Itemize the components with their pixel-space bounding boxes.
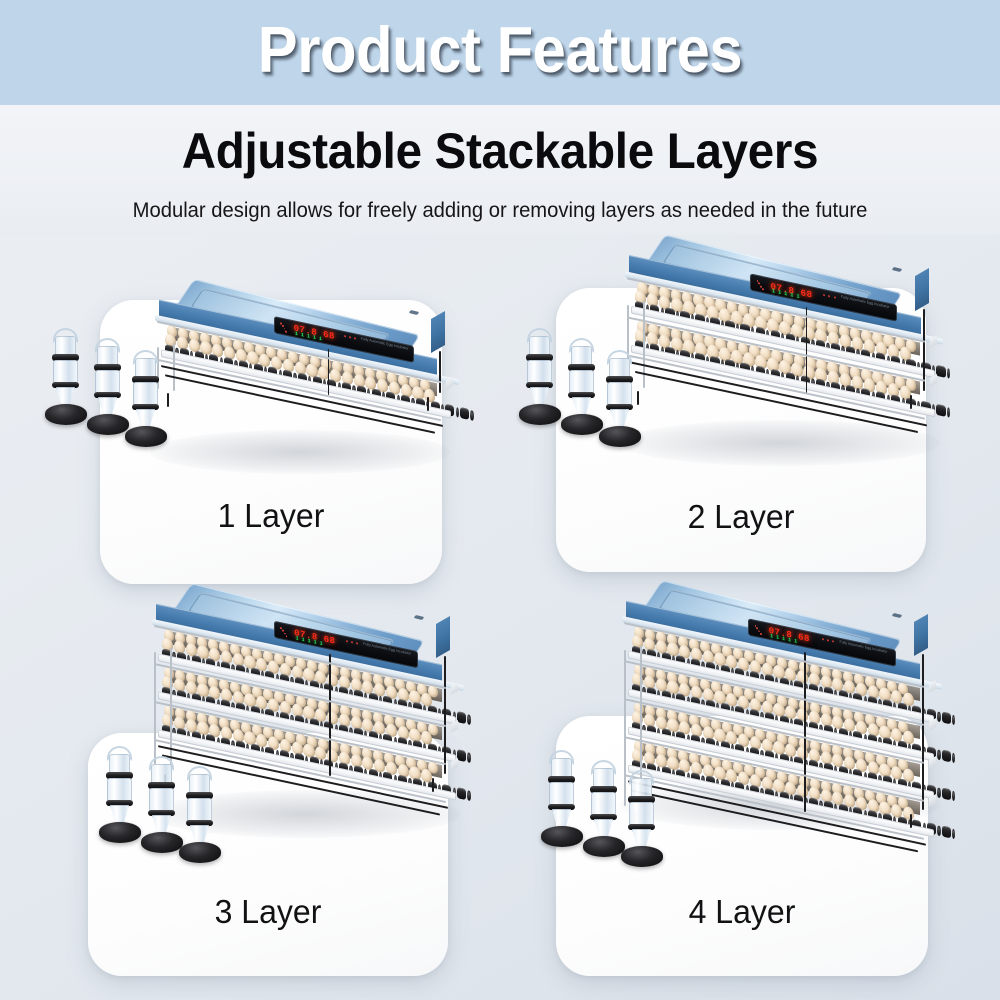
bottle-base — [99, 822, 141, 843]
panel-button-dot[interactable] — [833, 295, 835, 297]
rack-base-post — [432, 778, 434, 792]
panel-indicator-dot — [760, 285, 762, 287]
rack-post — [804, 652, 806, 812]
incubator-1-layer[interactable]: 07.8 681 1 1 1 1Fully Automatic Egg Incu… — [155, 305, 533, 491]
panel-button-dot[interactable] — [827, 640, 829, 642]
tray-plate-side — [930, 335, 937, 348]
bottle-neck — [593, 768, 614, 788]
card-2-layer-label: 2 Layer — [562, 498, 921, 536]
panel-button-dot[interactable] — [351, 641, 353, 643]
bottle-body — [549, 782, 574, 806]
water-bottle — [598, 352, 642, 448]
egg-roller-cap — [952, 790, 955, 801]
rack-post — [643, 301, 645, 389]
feature-headline: Adjustable Stackable Layers — [25, 122, 975, 180]
panel-indicator-dot — [284, 632, 286, 634]
panel-button-dot[interactable] — [356, 643, 358, 645]
card-1-layer-label: 1 Layer — [105, 497, 437, 535]
egg-roller-cap — [952, 828, 955, 839]
bottle-neck — [135, 358, 156, 378]
tray-plate-side — [929, 680, 936, 693]
panel-indicator-dot — [756, 280, 758, 282]
rack-base-post — [910, 814, 912, 828]
egg-roller — [942, 711, 951, 724]
bottle-base — [599, 426, 641, 447]
lid-right-face — [431, 311, 445, 353]
bottle-base — [179, 842, 221, 863]
lid-vent-slot — [414, 615, 425, 620]
bottle-neck — [631, 778, 652, 798]
bottle-neck — [55, 336, 76, 356]
lid-vent-slot — [892, 613, 903, 618]
water-bottle — [98, 748, 142, 844]
egg-roller-cap — [937, 787, 940, 798]
tray-plate-side — [929, 718, 936, 731]
bottle-body — [629, 802, 654, 826]
tray-plate-side — [929, 756, 936, 769]
bottle-base — [141, 832, 183, 853]
panel-indicator-dot — [758, 282, 760, 284]
lid-right-face — [915, 268, 929, 311]
rack-post — [922, 654, 924, 810]
panel-indicator-dot — [283, 630, 285, 632]
bottle-neck — [571, 346, 592, 366]
tray-plate-side — [929, 794, 936, 807]
egg-roller — [457, 711, 466, 724]
bottle-body — [187, 798, 212, 822]
panel-indicator-dot — [756, 627, 758, 629]
bottle-neck — [109, 754, 130, 774]
egg-roller-cap — [947, 407, 950, 418]
lid-right-face — [436, 616, 450, 658]
egg-roller-cap — [937, 825, 940, 836]
egg-roller-cap — [467, 790, 470, 801]
card-3-layer-label: 3 Layer — [93, 893, 442, 931]
egg-roller-cap — [470, 410, 473, 421]
rack-post — [329, 654, 331, 776]
water-bottle — [620, 772, 664, 868]
egg-roller — [457, 749, 466, 762]
panel-indicator-dot — [286, 330, 288, 332]
incubator-4-layer[interactable]: 07.8 681 1 1 1 1Fully Automatic Egg Incu… — [622, 608, 1000, 932]
bottle-body — [569, 370, 594, 394]
bottle-body — [149, 788, 174, 812]
egg-roller — [936, 365, 945, 378]
tray-plate-side — [451, 720, 458, 733]
water-bottle — [124, 352, 168, 448]
egg-roller-cap — [937, 711, 940, 722]
bottle-body — [107, 778, 132, 802]
bottle-base — [561, 414, 603, 435]
bottle-base — [583, 836, 625, 857]
panel-button-dot[interactable] — [823, 293, 825, 295]
egg-roller-cap — [952, 714, 955, 725]
bottle-body — [591, 792, 616, 816]
tray-plate-side — [451, 682, 458, 695]
egg-roller-cap — [467, 714, 470, 725]
panel-button-dot[interactable] — [344, 335, 346, 337]
panel-button-dot[interactable] — [821, 638, 823, 640]
egg-roller — [942, 749, 951, 762]
bottle-base — [45, 404, 87, 425]
card-4-layer-label: 4 Layer — [562, 893, 923, 931]
panel-button-dot[interactable] — [346, 640, 348, 642]
bottle-body — [95, 370, 120, 394]
water-bottle — [518, 330, 562, 426]
bottle-body — [607, 382, 632, 406]
bottle-base — [87, 414, 129, 435]
bottle-body — [133, 382, 158, 406]
bottle-neck — [97, 346, 118, 366]
egg-roller-cap — [947, 368, 950, 379]
panel-button-dot[interactable] — [349, 336, 351, 338]
bottle-body — [53, 360, 78, 384]
rack-post — [439, 351, 441, 393]
bottle-body — [527, 360, 552, 384]
bottle-neck — [609, 358, 630, 378]
rack-post — [444, 656, 446, 774]
product-features-page: Product Features Adjustable Stackable La… — [0, 0, 1000, 1000]
egg-roller — [936, 404, 945, 417]
lid-vent-slot — [892, 267, 903, 272]
bottle-neck — [529, 336, 550, 356]
rack-post — [154, 652, 156, 770]
bottle-neck — [551, 758, 572, 778]
tray-plate-side — [446, 377, 453, 390]
tray-plate-side — [930, 374, 937, 387]
panel-indicator-dot — [758, 630, 760, 632]
egg-roller — [457, 787, 466, 800]
panel-button-dot[interactable] — [354, 337, 356, 339]
egg-roller-cap — [952, 752, 955, 763]
egg-roller-cap — [467, 752, 470, 763]
bottle-base — [519, 404, 561, 425]
panel-button-dot[interactable] — [828, 294, 830, 296]
egg-roller — [942, 825, 951, 838]
bottle-base — [125, 426, 167, 447]
page-title: Product Features — [40, 16, 960, 84]
tray-plate-side — [451, 758, 458, 771]
lid-vent-slot — [409, 310, 420, 315]
rack-base-post — [427, 397, 429, 411]
panel-indicator-dot — [762, 287, 764, 289]
egg-roller-cap — [456, 407, 459, 418]
egg-roller-cap — [937, 749, 940, 760]
water-bottle — [178, 768, 222, 864]
water-bottle — [540, 752, 584, 848]
egg-roller — [942, 787, 951, 800]
bottle-neck — [151, 764, 172, 784]
lid-right-face — [914, 614, 928, 656]
panel-button-dot[interactable] — [832, 641, 834, 643]
bottle-neck — [189, 774, 210, 794]
water-bottle — [44, 330, 88, 426]
panel-indicator-dot — [286, 635, 288, 637]
rack-post — [923, 309, 925, 391]
feature-subline: Modular design allows for freely adding … — [30, 198, 970, 223]
bottle-base — [541, 826, 583, 847]
bottle-base — [621, 846, 663, 867]
egg-roller — [460, 407, 469, 420]
incubator-2-layer[interactable]: 07.8 681 1 1 1 1Fully Automatic Egg Incu… — [625, 262, 1000, 499]
panel-indicator-dot — [760, 633, 762, 635]
panel-indicator-dot — [282, 325, 284, 327]
